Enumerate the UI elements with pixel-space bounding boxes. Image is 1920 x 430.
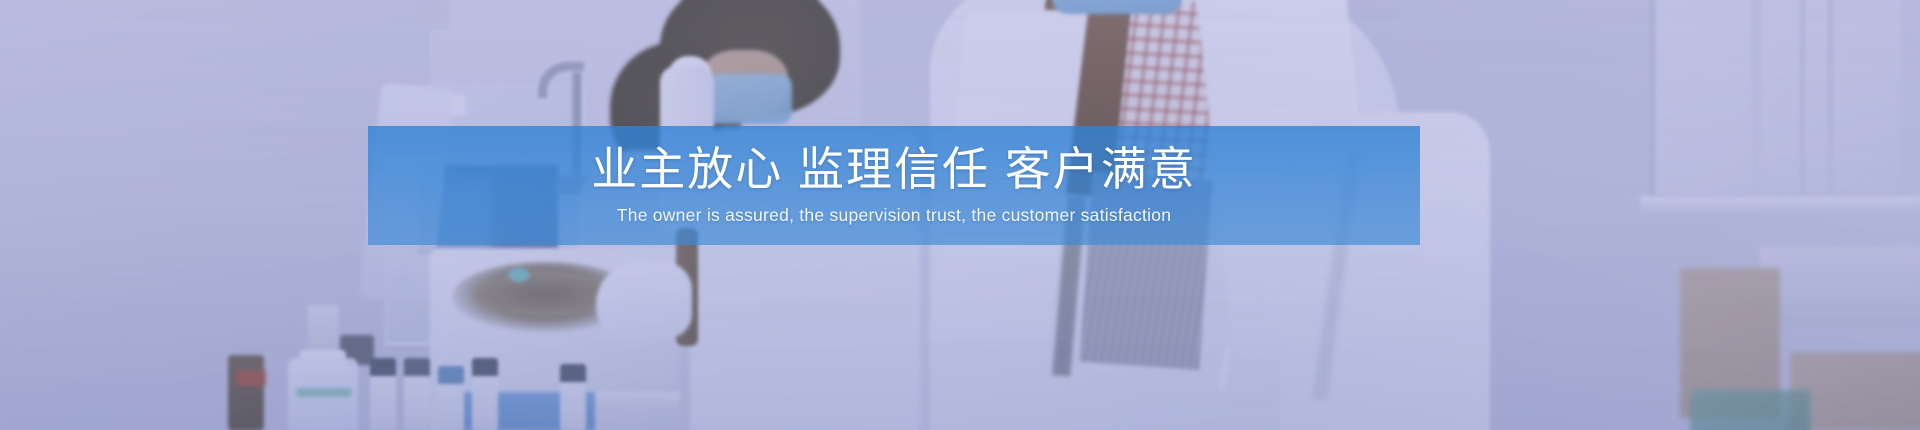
test-tube-cap [472, 358, 498, 376]
hero-banner: 业主放心 监理信任 客户满意 The owner is assured, the… [0, 0, 1920, 430]
test-tube [438, 366, 464, 430]
test-tube-cap [560, 364, 586, 382]
test-tube-cap [404, 358, 430, 376]
water-bottle-ring [296, 388, 352, 397]
window-sill [1640, 196, 1920, 214]
window-mullion-1 [1752, 0, 1761, 208]
test-tube-cap [370, 358, 396, 376]
window-mullion-2 [1800, 0, 1805, 208]
banner-subheadline: The owner is assured, the supervision tr… [617, 205, 1171, 226]
sample-cap [508, 268, 530, 282]
headline-band: 业主放心 监理信任 客户满意 The owner is assured, the… [368, 126, 1420, 245]
test-tube [472, 358, 498, 430]
reagent-bottle-label [236, 370, 266, 386]
test-tube [404, 358, 430, 430]
window-mullion-3 [1827, 0, 1834, 205]
gloved-hand [596, 262, 692, 338]
test-tube [370, 358, 396, 430]
wall-socket-top [415, 0, 449, 30]
banner-headline: 业主放心 监理信任 客户满意 [591, 145, 1197, 195]
doctor-face-mask [1052, 0, 1182, 14]
test-tube-cap [438, 366, 464, 384]
test-tube [560, 364, 586, 430]
window [1650, 0, 1900, 200]
reagent-bottle-dark [228, 355, 264, 430]
shelf [1760, 246, 1920, 326]
technician-front-mask [706, 74, 792, 124]
green-container [1690, 390, 1810, 430]
